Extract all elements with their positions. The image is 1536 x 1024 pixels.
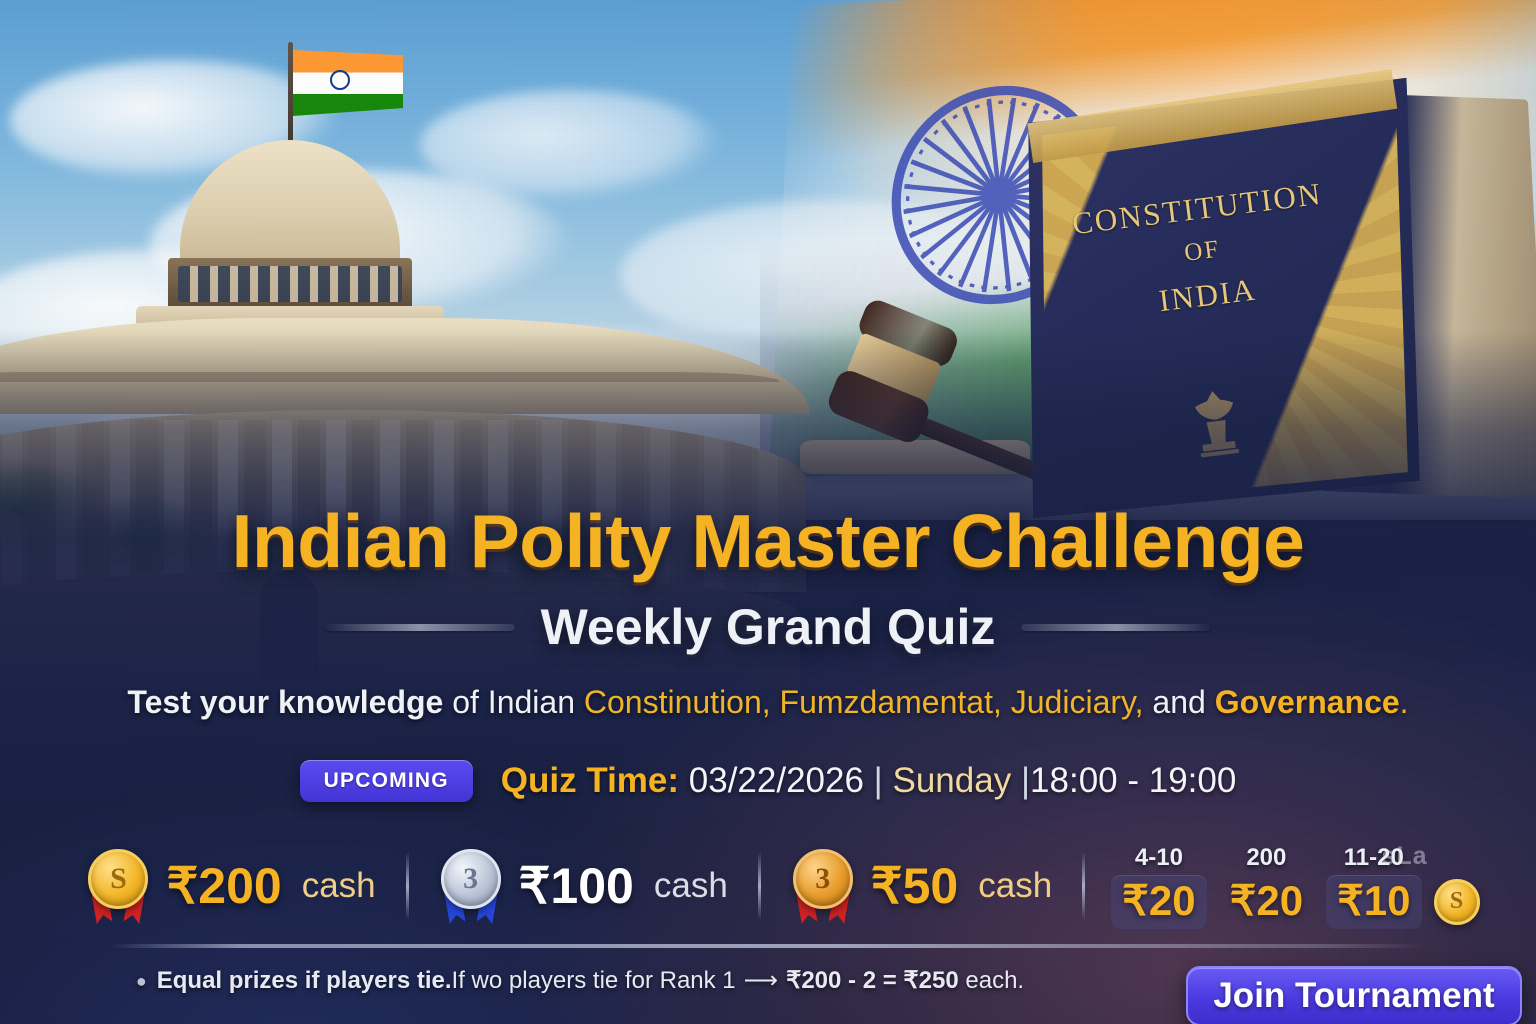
rank-ghost-text: sLa [1381,842,1427,871]
tie-rule-calculation: ₹200 - 2 = ₹250 [786,967,959,994]
rank-range: 200 [1246,844,1286,872]
prize-second-place: 3 ₹100 cash [409,849,758,923]
tagline-topics: Constinution, Fumzdamentat, Judiciary, [584,684,1144,720]
prize-row: S ₹200 cash 3 ₹100 cash 3 ₹ [0,838,1536,934]
tie-rule-text-b: each. [959,967,1024,994]
divider-left [325,624,515,631]
separator: | [874,761,883,800]
tagline-lead: Test your knowledge [127,684,443,720]
tie-rule-bold: Equal prizes if players tie. [157,967,452,994]
footer-divider [110,944,1426,948]
gold-medal-icon: S [86,849,150,923]
medal-glyph: 3 [793,849,853,909]
tagline-last-topic: Governance [1215,684,1400,720]
prize-amount: ₹100 [519,857,634,915]
tie-rule-note: ●Equal prizes if players tie.If wo playe… [0,966,1160,995]
prize-third-place: 3 ₹50 cash [761,849,1082,923]
bullet-icon: ● [136,971,147,991]
medal-glyph: 3 [441,849,501,909]
prize-unit: cash [654,866,728,906]
rank-chip: 4-10 ₹20 [1111,844,1206,929]
quiz-date: 03/22/2026 [689,761,864,800]
tagline-mid: of Indian [443,684,584,720]
silver-medal-icon: 3 [439,849,503,923]
join-tournament-button[interactable]: Join Tournament [1186,966,1522,1024]
rank-prize-chips: 4-10 ₹20 200 ₹20 11-20 ₹10 S sLa [1085,844,1479,929]
separator: | [1021,761,1030,800]
rank-prize-value: ₹20 [1219,875,1314,929]
prize-first-place: S ₹200 cash [56,849,405,923]
coin-icon: S [1434,879,1480,925]
rank-prize-value: ₹10 [1326,875,1421,929]
quiz-time-text: Quiz Time: 03/22/2026 | Sunday |18:00 - … [501,761,1237,801]
prize-unit: cash [302,866,376,906]
rank-range: 4-10 [1135,844,1183,872]
page-title: Indian Polity Master Challenge [0,498,1536,584]
status-badge[interactable]: UPCOMING [300,760,473,802]
quiz-time-range: 18:00 - 19:00 [1030,761,1236,800]
arrow-icon: ⟶ [744,967,778,994]
bronze-medal-icon: 3 [791,849,855,923]
rank-chip: 200 ₹20 [1219,844,1314,929]
prize-unit: cash [978,866,1052,906]
tagline: Test your knowledge of Indian Constinuti… [0,684,1536,721]
prize-amount: ₹200 [166,857,281,915]
rank-prize-value: ₹20 [1111,875,1206,929]
divider-right [1021,624,1211,631]
quiz-day: Sunday [893,761,1012,800]
tagline-period: . [1400,684,1409,720]
tournament-promo-banner: CONSTITUTION OF INDIA Indian Polity Mast… [0,0,1536,1024]
prize-amount: ₹50 [871,857,958,915]
schedule-row: UPCOMING Quiz Time: 03/22/2026 | Sunday … [0,760,1536,802]
subtitle-row: Weekly Grand Quiz [0,598,1536,656]
quiz-time-label: Quiz Time: [501,761,679,800]
tagline-and: and [1144,684,1215,720]
tie-rule-text-a: If wo players tie for Rank 1 [452,967,736,994]
page-subtitle: Weekly Grand Quiz [541,598,996,656]
